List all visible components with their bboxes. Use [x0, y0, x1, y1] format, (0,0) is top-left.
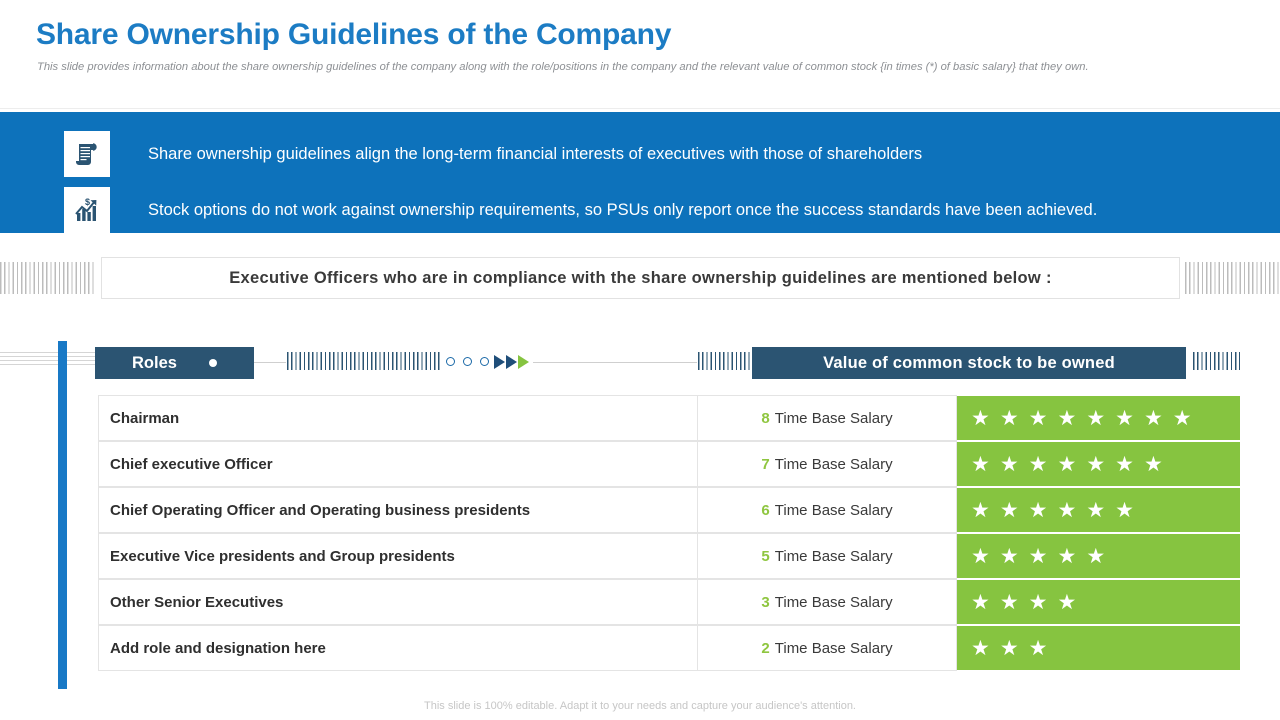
table-row: Chief executive Officer7Time Base Salary… [98, 441, 1240, 487]
exec-compliance-banner: Executive Officers who are in compliance… [101, 257, 1180, 299]
page-title: Share Ownership Guidelines of the Compan… [36, 18, 671, 52]
header-hatch-3 [1193, 352, 1240, 370]
slide-root: Share Ownership Guidelines of the Compan… [0, 0, 1280, 720]
star-icon: ★ [1086, 546, 1105, 567]
circle-icon [463, 357, 472, 366]
scroll-document-icon [64, 131, 110, 177]
roles-column-header: Roles [95, 347, 254, 379]
stars-cell: ★★★★★★★ [957, 441, 1240, 487]
multiple-number: 6 [761, 502, 769, 519]
star-icon: ★ [1057, 408, 1076, 429]
value-cell: 3Time Base Salary [698, 579, 957, 625]
footer-note: This slide is 100% editable. Adapt it to… [0, 700, 1280, 712]
exec-hatch-right [1185, 262, 1280, 294]
star-icon: ★ [1086, 408, 1105, 429]
value-column-header: Value of common stock to be owned [752, 347, 1186, 379]
banner-point-1: Share ownership guidelines align the lon… [64, 131, 922, 177]
table-row: Chief Operating Officer and Operating bu… [98, 487, 1240, 533]
star-icon: ★ [1144, 454, 1163, 475]
banner-point-2: $ Stock options do not work against owne… [64, 187, 1097, 233]
star-icon: ★ [1173, 408, 1192, 429]
star-icon: ★ [971, 454, 990, 475]
decor-triangles [494, 355, 529, 369]
star-icon: ★ [1000, 638, 1019, 659]
info-banner: Share ownership guidelines align the lon… [0, 112, 1280, 233]
star-icon: ★ [1115, 408, 1134, 429]
multiple-unit-label: Time Base Salary [775, 456, 893, 473]
star-icon: ★ [1115, 454, 1134, 475]
triangle-right-icon [506, 355, 517, 369]
star-icon: ★ [1029, 638, 1048, 659]
star-icon: ★ [971, 500, 990, 521]
role-cell: Other Senior Executives [98, 579, 698, 625]
header-divider [0, 108, 1280, 109]
value-cell: 2Time Base Salary [698, 625, 957, 671]
value-cell: 7Time Base Salary [698, 441, 957, 487]
page-subtitle: This slide provides information about th… [37, 60, 1227, 75]
star-icon: ★ [1086, 454, 1105, 475]
multiple-number: 8 [761, 410, 769, 427]
connector-line-right [533, 362, 697, 363]
roles-column-header-label: Roles [132, 354, 177, 373]
star-icon: ★ [1000, 592, 1019, 613]
star-icon: ★ [1000, 408, 1019, 429]
multiple-unit-label: Time Base Salary [775, 640, 893, 657]
decor-circles [446, 357, 489, 366]
circle-icon [480, 357, 489, 366]
star-icon: ★ [971, 638, 990, 659]
star-icon: ★ [1057, 454, 1076, 475]
multiple-unit-label: Time Base Salary [775, 410, 893, 427]
star-icon: ★ [1029, 546, 1048, 567]
multiple-number: 7 [761, 456, 769, 473]
exec-compliance-text: Executive Officers who are in compliance… [229, 269, 1052, 288]
value-cell: 6Time Base Salary [698, 487, 957, 533]
stars-cell: ★★★★★★ [957, 487, 1240, 533]
table-row: Add role and designation here2Time Base … [98, 625, 1240, 671]
multiple-number: 3 [761, 594, 769, 611]
multiple-unit-label: Time Base Salary [775, 548, 893, 565]
star-icon: ★ [1057, 546, 1076, 567]
banner-point-2-text: Stock options do not work against owners… [148, 201, 1097, 220]
triangle-right-icon [518, 355, 529, 369]
table-row: Chairman8Time Base Salary★★★★★★★★ [98, 395, 1240, 441]
star-icon: ★ [1000, 546, 1019, 567]
stars-cell: ★★★★★★★★ [957, 395, 1240, 441]
role-cell: Executive Vice presidents and Group pres… [98, 533, 698, 579]
star-icon: ★ [1057, 592, 1076, 613]
star-icon: ★ [1000, 500, 1019, 521]
multiple-number: 2 [761, 640, 769, 657]
table-row: Other Senior Executives3Time Base Salary… [98, 579, 1240, 625]
connector-line-left [254, 362, 286, 363]
star-icon: ★ [971, 408, 990, 429]
stars-cell: ★★★ [957, 625, 1240, 671]
growth-chart-dollar-icon: $ [64, 187, 110, 233]
star-icon: ★ [1086, 500, 1105, 521]
star-icon: ★ [1057, 500, 1076, 521]
value-cell: 8Time Base Salary [698, 395, 957, 441]
star-icon: ★ [1029, 454, 1048, 475]
multiple-unit-label: Time Base Salary [775, 594, 893, 611]
role-cell: Chief executive Officer [98, 441, 698, 487]
triangle-right-icon [494, 355, 505, 369]
star-icon: ★ [1029, 408, 1048, 429]
star-icon: ★ [1029, 592, 1048, 613]
header-hatch-2 [698, 352, 750, 370]
banner-point-1-text: Share ownership guidelines align the lon… [148, 145, 922, 164]
multiple-number: 5 [761, 548, 769, 565]
star-icon: ★ [1115, 500, 1134, 521]
star-icon: ★ [971, 546, 990, 567]
header-hatch-1 [287, 352, 442, 370]
star-icon: ★ [1000, 454, 1019, 475]
table-row: Executive Vice presidents and Group pres… [98, 533, 1240, 579]
value-cell: 5Time Base Salary [698, 533, 957, 579]
role-cell: Chairman [98, 395, 698, 441]
star-icon: ★ [971, 592, 990, 613]
star-icon: ★ [1029, 500, 1048, 521]
ownership-table: Chairman8Time Base Salary★★★★★★★★Chief e… [98, 395, 1240, 671]
circle-icon [446, 357, 455, 366]
star-icon: ★ [1144, 408, 1163, 429]
svg-text:$: $ [85, 197, 90, 207]
accent-vertical-bar [58, 341, 67, 689]
roles-bullet-dot-icon [209, 359, 217, 367]
value-column-header-label: Value of common stock to be owned [823, 354, 1115, 373]
stars-cell: ★★★★★ [957, 533, 1240, 579]
role-cell: Add role and designation here [98, 625, 698, 671]
multiple-unit-label: Time Base Salary [775, 502, 893, 519]
role-cell: Chief Operating Officer and Operating bu… [98, 487, 698, 533]
exec-hatch-left [0, 262, 96, 294]
stars-cell: ★★★★ [957, 579, 1240, 625]
